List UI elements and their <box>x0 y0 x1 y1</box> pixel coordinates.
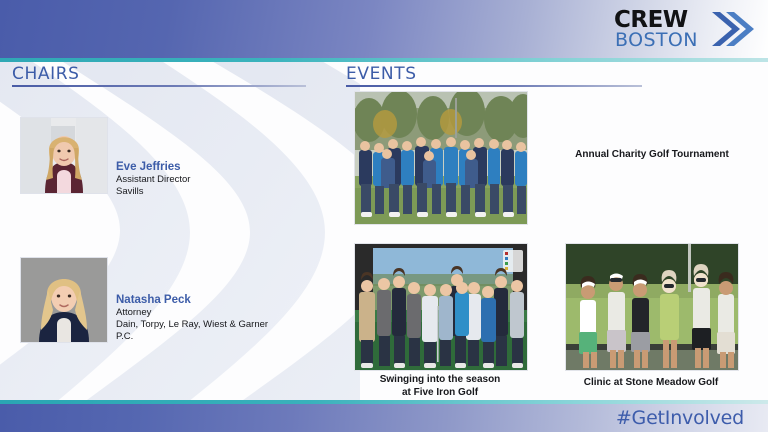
section-label-chairs: CHAIRS <box>12 64 306 84</box>
logo-text-boston: BOSTON <box>615 29 698 51</box>
section-header-events: EVENTS <box>346 64 642 87</box>
crew-boston-logo: CREW BOSTON <box>614 6 754 52</box>
chair-name: Eve Jeffries <box>116 160 266 174</box>
hashtag-get-involved: #GetInvolved <box>616 404 744 432</box>
chair-organization: Savills <box>116 186 266 198</box>
event-caption: Swinging into the season at Five Iron Go… <box>352 373 528 399</box>
event-caption: Clinic at Stone Meadow Golf <box>563 376 739 389</box>
background-swoosh-watermark <box>0 60 360 432</box>
header-teal-rule <box>0 58 768 62</box>
slide-golf-committee: Golf Committee CREW BOSTON CHAIRS EVENTS <box>0 0 768 432</box>
event-caption-line-1: Swinging into the season <box>352 373 528 386</box>
chair-role: Attorney <box>116 307 286 319</box>
chair-name: Natasha Peck <box>116 293 286 307</box>
event-photo <box>354 243 528 371</box>
section-header-chairs: CHAIRS <box>12 64 306 87</box>
chair-details: Eve Jeffries Assistant Director Savills <box>116 160 266 198</box>
event-photo <box>565 243 739 371</box>
chair-organization: Dain, Torpy, Le Ray, Wiest & Garner P.C. <box>116 319 286 343</box>
event-caption-line-2: at Five Iron Golf <box>352 386 528 399</box>
section-label-events: EVENTS <box>346 64 642 84</box>
crew-chevron-mark-icon <box>710 10 754 48</box>
chair-role: Assistant Director <box>116 174 266 186</box>
section-rule-chairs <box>12 85 306 87</box>
chair-details: Natasha Peck Attorney Dain, Torpy, Le Ra… <box>116 293 286 343</box>
section-rule-events <box>346 85 642 87</box>
avatar <box>20 117 108 194</box>
event-photo <box>354 91 528 225</box>
avatar <box>20 257 108 343</box>
event-caption: Annual Charity Golf Tournament <box>540 148 764 161</box>
